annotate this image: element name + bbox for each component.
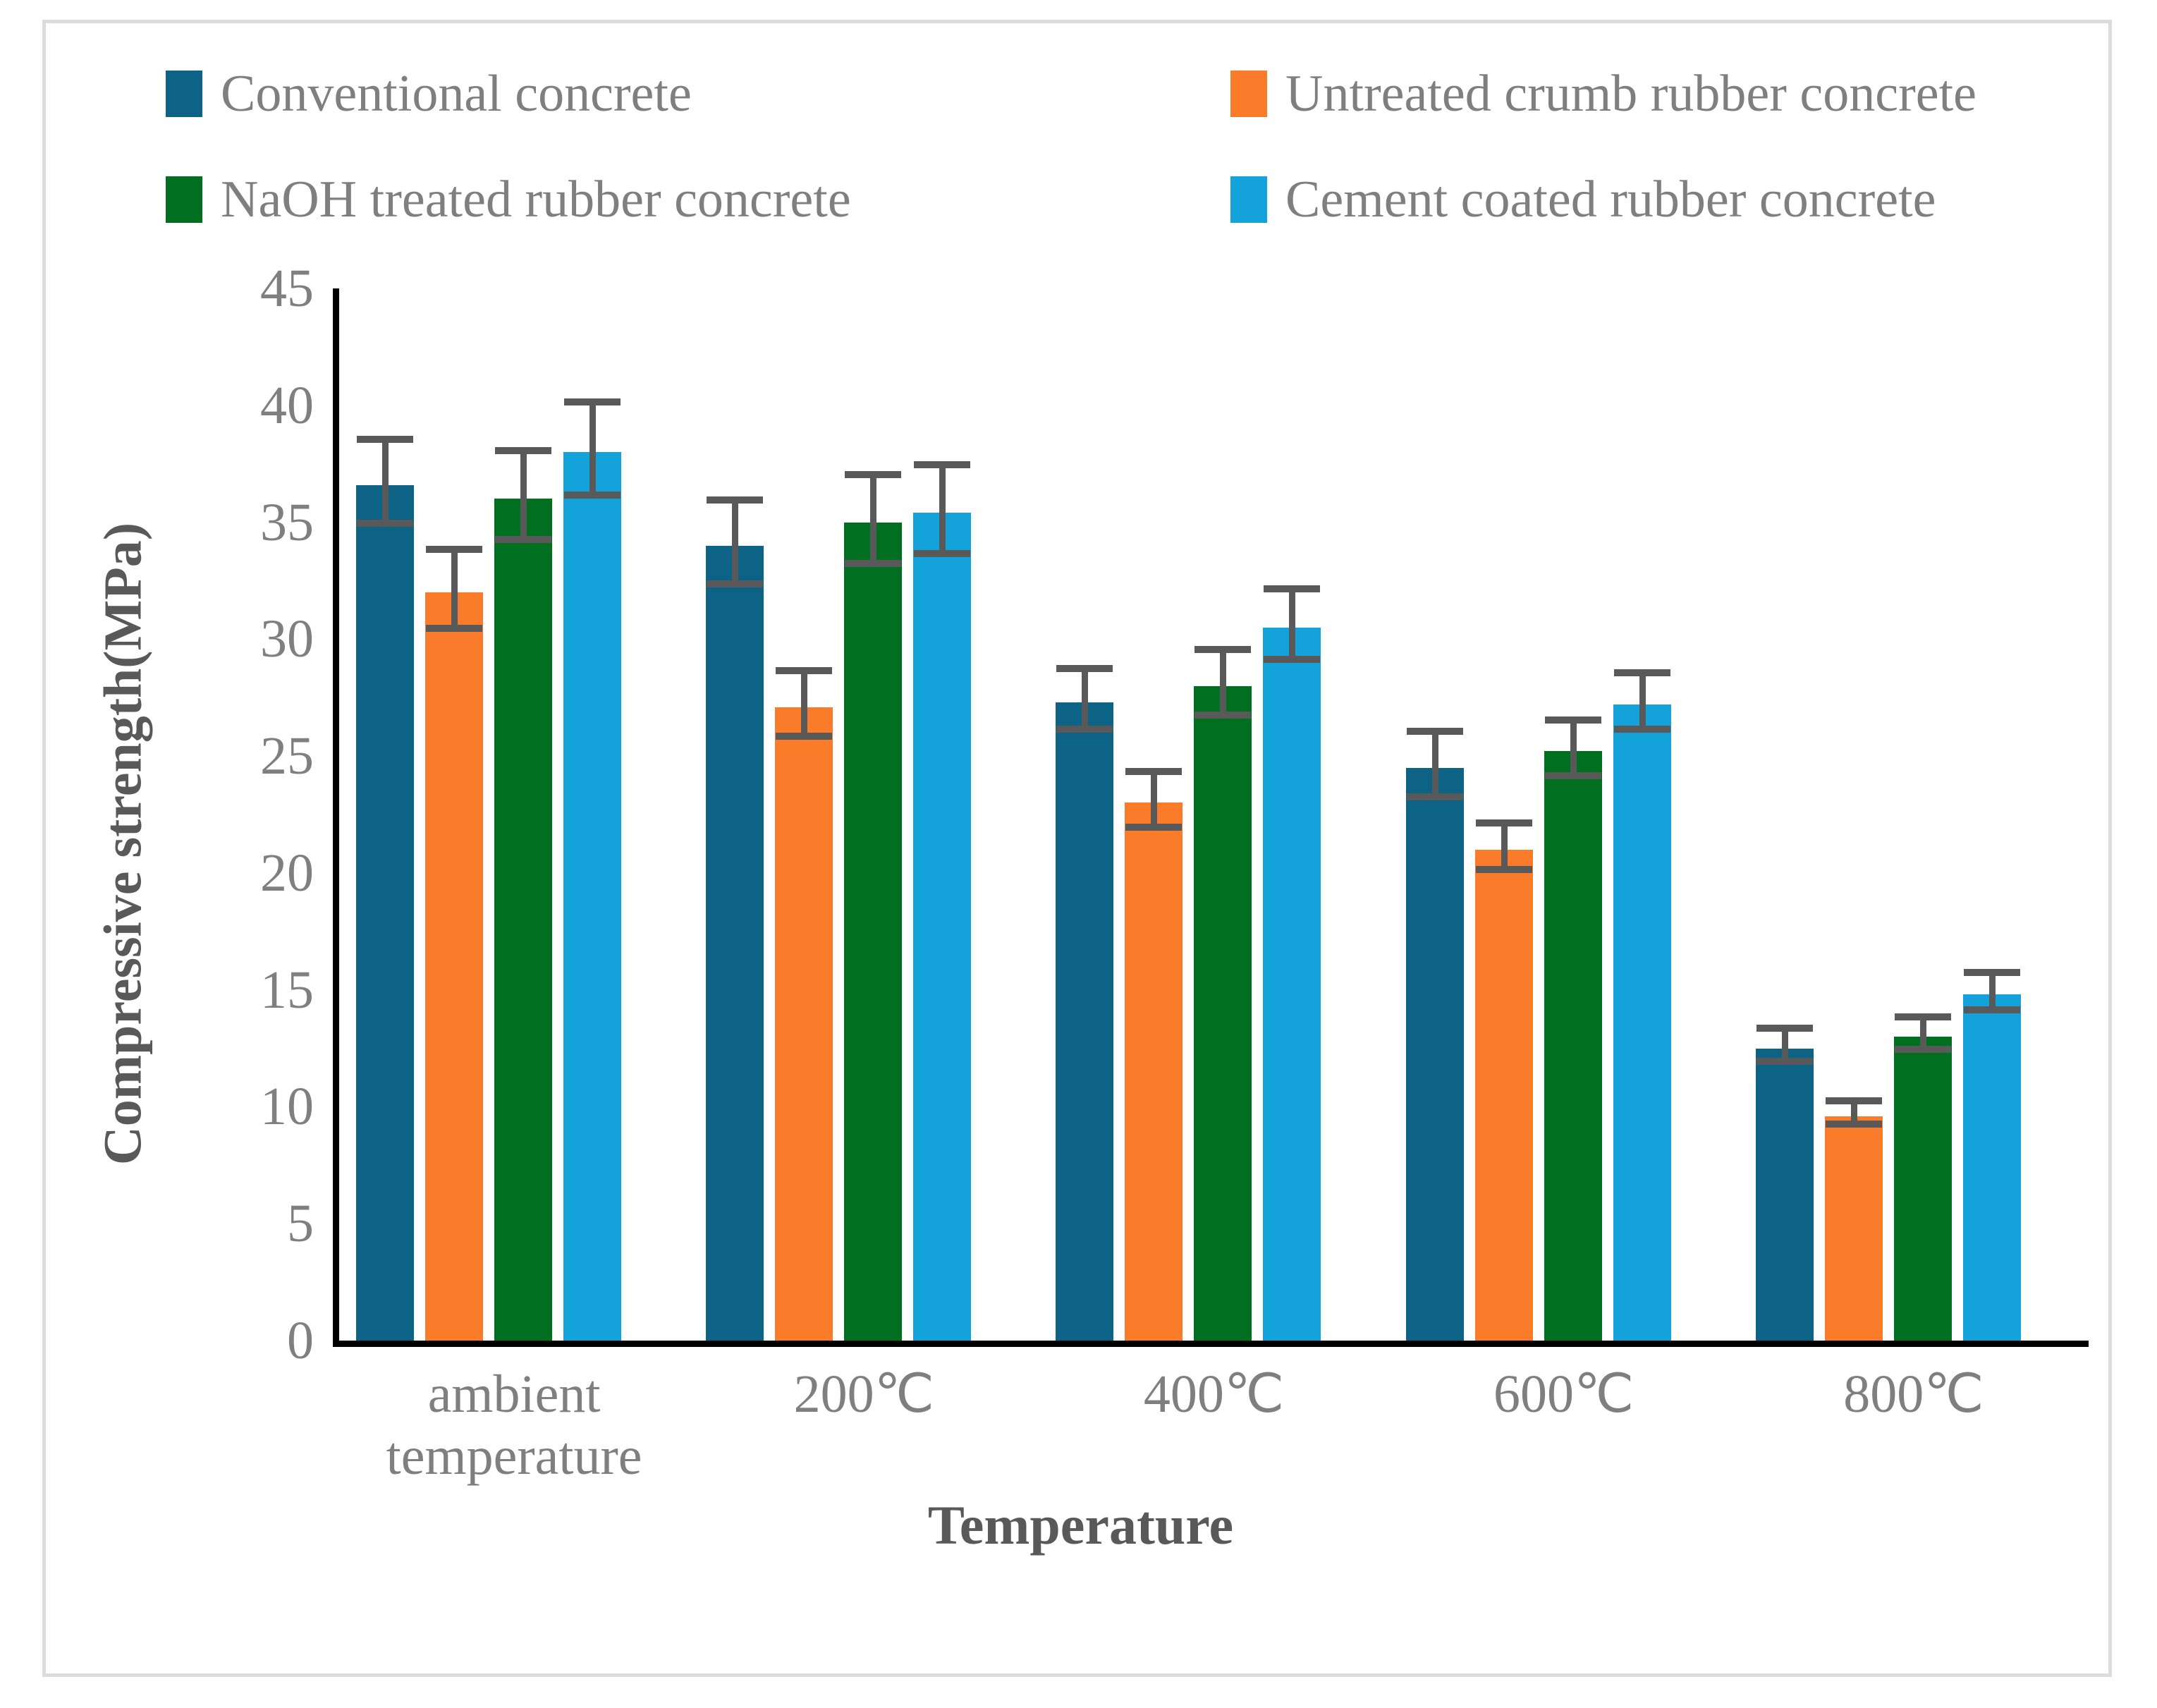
bar[interactable] [1544,751,1602,1341]
error-bar-cap-bottom [495,536,551,543]
error-bar-cap-top [564,398,621,405]
error-bar-cap-top [1194,646,1251,653]
bar[interactable] [775,707,833,1341]
error-bar-line [589,405,596,499]
y-axis-tick-label: 45 [201,262,314,315]
error-bar-cap-top [1964,969,2020,976]
y-axis-tick-label: 25 [201,729,314,783]
bar[interactable] [425,592,483,1341]
error-bar-cap-bottom [1264,656,1320,663]
error-bar-cap-top [1407,728,1463,735]
error-bar-line [520,454,527,543]
error-bar-cap-top [845,471,901,478]
error-bar-cap-top [1545,716,1601,724]
bar-chart-plot: Compressive strength(MPa) 45403530252015… [46,23,2115,1680]
error-bar-cap-top [776,667,832,674]
figure-container: Conventional concrete Untreated crumb ru… [42,20,2112,1677]
error-bar-cap-bottom [1125,824,1182,831]
error-bar-line [1082,672,1088,733]
bar[interactable] [1194,686,1252,1341]
error-bar-cap-top [1756,1025,1813,1032]
error-bar-line [1432,735,1438,800]
error-bar-cap-top [495,447,551,454]
error-bar-line [382,443,389,527]
error-bar-cap-bottom [1614,726,1670,733]
bar-group [689,288,1039,1341]
bar[interactable] [706,546,764,1341]
bar-group [1739,288,2089,1341]
error-bar-line [870,478,876,567]
bar[interactable] [1756,1049,1814,1341]
bar[interactable] [1406,768,1464,1341]
error-bar-cap-bottom [1194,712,1251,719]
error-bar-cap-top [1056,665,1113,672]
error-bar-line [1151,775,1157,831]
y-axis-tick-label: 30 [201,612,314,666]
error-bar-cap-bottom [1756,1058,1813,1065]
error-bar-line [1570,724,1577,780]
error-bar-line [451,553,458,633]
error-bar-line [939,468,946,557]
x-axis-tick-label: ambient temperature [331,1363,697,1487]
bar[interactable] [356,485,414,1341]
error-bar-cap-top [1895,1013,1951,1020]
error-bar-cap-bottom [1826,1121,1882,1128]
error-bar-line [1220,653,1226,719]
error-bar-cap-bottom [1895,1046,1951,1053]
x-axis-tick-label: 400℃ [1031,1363,1398,1425]
error-bar-cap-bottom [1056,726,1113,733]
bar[interactable] [1475,850,1533,1341]
bar[interactable] [1613,704,1671,1341]
y-axis-line [333,288,339,1346]
error-bar-cap-top [1476,819,1532,826]
error-bar-cap-top [426,546,482,553]
error-bar-cap-bottom [426,625,482,632]
error-bar-cap-top [1614,669,1670,676]
y-axis-tick-label: 10 [201,1080,314,1133]
error-bar-cap-top [914,461,970,468]
bar[interactable] [1825,1116,1883,1341]
error-bar-cap-top [1826,1097,1882,1104]
error-bar-cap-bottom [776,733,832,740]
bar[interactable] [1963,994,2021,1341]
error-bar-cap-top [1125,768,1182,775]
error-bar-cap-bottom [707,580,763,587]
bar[interactable] [1263,628,1321,1341]
error-bar-cap-bottom [1476,866,1532,873]
bar[interactable] [563,452,621,1341]
x-axis-tick-label: 800℃ [1730,1363,2097,1425]
bar[interactable] [1056,702,1113,1341]
y-axis-tick-label: 40 [201,379,314,432]
y-axis-tick-label: 5 [201,1197,314,1250]
error-bar-cap-bottom [564,492,621,499]
error-bar-line [1289,592,1295,662]
error-bar-cap-top [707,496,763,504]
bar[interactable] [494,499,552,1341]
error-bar-cap-bottom [845,560,901,567]
error-bar-cap-bottom [1407,793,1463,800]
error-bar-cap-bottom [1964,1006,2020,1013]
bar-group [1039,288,1388,1341]
error-bar-cap-top [357,436,413,443]
bar[interactable] [1894,1037,1952,1341]
y-axis-tick-label: 0 [201,1314,314,1367]
x-axis-tick-label: 600℃ [1381,1363,1747,1425]
x-axis-title: Temperature [46,1494,2115,1557]
x-axis-line [333,1341,2089,1347]
error-bar-cap-bottom [914,550,970,557]
x-axis-tick-label: 200℃ [680,1363,1047,1425]
error-bar-cap-bottom [357,520,413,527]
y-axis-title: Compressive strength(MPa) [93,386,154,1303]
error-bar-line [1639,676,1646,733]
y-axis-tick-label: 20 [201,846,314,900]
bar[interactable] [913,513,971,1341]
bar-group [1389,288,1739,1341]
error-bar-cap-top [1264,585,1320,592]
error-bar-line [801,674,807,740]
bar[interactable] [1125,803,1183,1341]
bar-group [339,288,689,1341]
error-bar-cap-bottom [1545,772,1601,779]
y-axis-tick-label: 15 [201,963,314,1017]
error-bar-line [732,504,738,587]
bar[interactable] [844,523,902,1341]
plot-bars-area [339,288,2089,1341]
y-axis-tick-label: 35 [201,496,314,549]
